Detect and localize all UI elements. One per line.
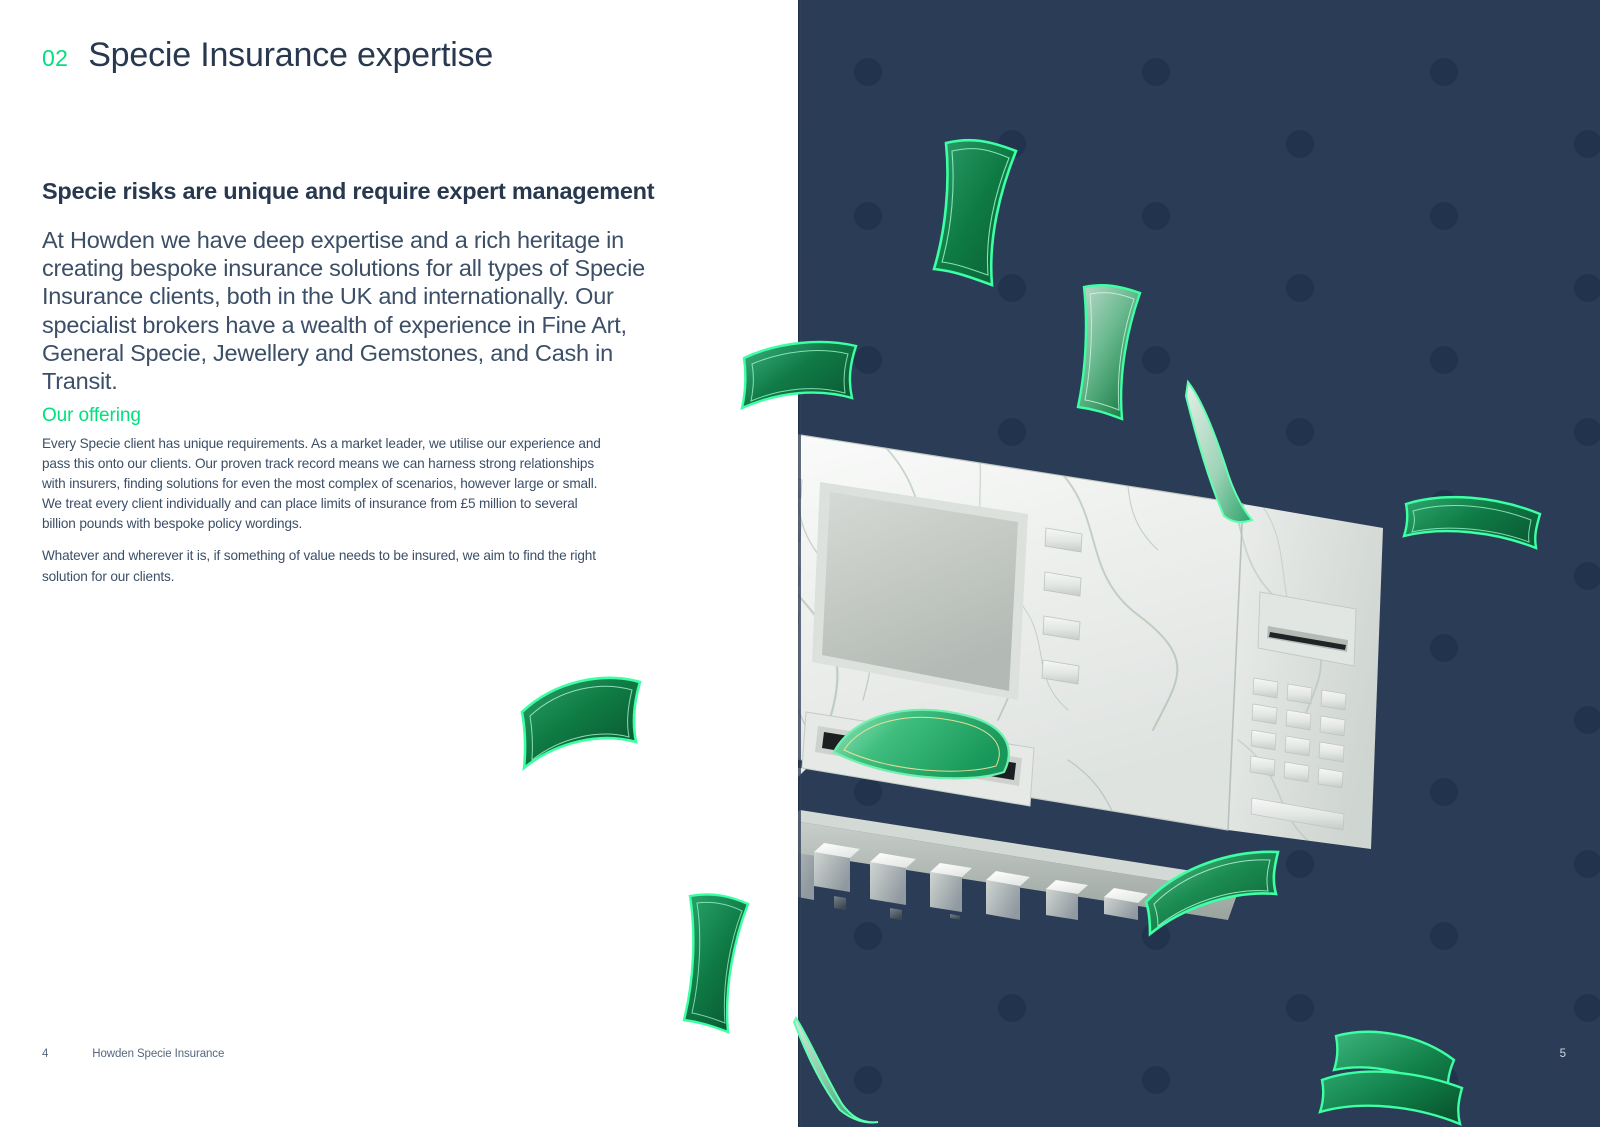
offering-paragraph-1: Every Specie client has unique requireme… (42, 434, 607, 534)
background-dot (854, 922, 882, 950)
page-number-left: 4 (42, 1048, 48, 1060)
background-dot (1430, 202, 1458, 230)
background-dot (1574, 418, 1600, 446)
atm-machine-illustration (798, 400, 1398, 920)
lead-heading: Specie risks are unique and require expe… (42, 178, 682, 205)
banknote-7 (1318, 1062, 1468, 1127)
brochure-spread: 02 Specie Insurance expertise Specie ris… (0, 0, 1600, 1127)
banknote-3 (1180, 378, 1264, 526)
section-number: 02 (42, 45, 68, 72)
lead-paragraph: At Howden we have deep expertise and a r… (42, 226, 667, 395)
banknote-2 (1070, 281, 1152, 426)
background-dot (1286, 130, 1314, 158)
offering-heading: Our offering (42, 405, 141, 427)
background-dot (1430, 634, 1458, 662)
footer-left: 4 Howden Specie Insurance (42, 1048, 224, 1060)
background-dot (1574, 706, 1600, 734)
background-dot (1286, 274, 1314, 302)
background-dot (1430, 58, 1458, 86)
spine-seam (798, 0, 801, 1127)
banknote-1 (928, 135, 1038, 295)
page-number-right: 5 (1560, 1048, 1566, 1060)
background-dot (1574, 274, 1600, 302)
page-title: Specie Insurance expertise (88, 36, 493, 75)
background-dot (1574, 562, 1600, 590)
banknote-9 (512, 668, 648, 776)
offering-paragraph-2: Whatever and wherever it is, if somethin… (42, 546, 607, 586)
banknote-8 (736, 336, 862, 418)
background-dot (1574, 994, 1600, 1022)
background-dot (1430, 922, 1458, 950)
section-header: 02 Specie Insurance expertise (42, 36, 493, 75)
background-dot (1574, 850, 1600, 878)
atm-screen (812, 482, 1028, 700)
banknote-5 (1138, 846, 1286, 942)
background-dot (1574, 130, 1600, 158)
background-dot (1142, 1066, 1170, 1094)
background-dot (998, 994, 1026, 1022)
background-dot (1430, 778, 1458, 806)
background-dot (1430, 346, 1458, 374)
banknote-11 (790, 1012, 886, 1127)
right-page: 5 (798, 0, 1600, 1127)
background-dot (1142, 58, 1170, 86)
banknote-10 (676, 890, 758, 1038)
background-dot (1142, 202, 1170, 230)
background-dot (1286, 994, 1314, 1022)
publication-name: Howden Specie Insurance (92, 1048, 224, 1060)
background-dot (854, 202, 882, 230)
offering-body: Every Specie client has unique requireme… (42, 434, 607, 587)
background-dot (854, 58, 882, 86)
banknote-4 (1400, 492, 1546, 558)
